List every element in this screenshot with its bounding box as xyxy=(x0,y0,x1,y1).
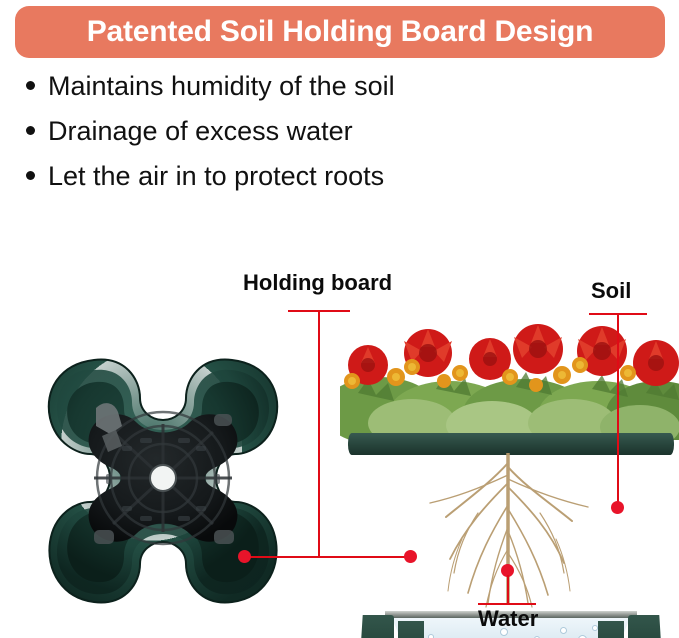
feature-text: Drainage of excess water xyxy=(48,117,353,147)
leader-line-soil-stem xyxy=(617,313,619,507)
leader-line-holding-board-bottom xyxy=(244,556,414,558)
reservoir-leg xyxy=(598,621,624,638)
leader-line-water-bottom xyxy=(478,603,536,605)
feature-item: Drainage of excess water xyxy=(26,117,586,162)
flower-mass xyxy=(340,315,679,440)
feature-item: Maintains humidity of the soil xyxy=(26,72,586,117)
feature-item: Let the air in to protect roots xyxy=(26,162,586,207)
leader-dot-soil xyxy=(611,501,624,514)
planter-cross-section-photo xyxy=(340,315,679,638)
product-illustration: Holding board Soil Water xyxy=(0,255,679,638)
planter-rim xyxy=(348,433,674,455)
holding-board-graphic xyxy=(18,350,308,620)
header-banner: Patented Soil Holding Board Design xyxy=(15,6,665,58)
leader-dot-holding-board-right xyxy=(404,550,417,563)
leader-line-water-stem xyxy=(507,575,509,605)
soil-holding-board-photo xyxy=(18,350,308,620)
leader-line-holding-board-stem xyxy=(318,310,320,558)
leader-dot-holding-board-left xyxy=(238,550,251,563)
reservoir-leg xyxy=(398,621,424,638)
page-title: Patented Soil Holding Board Design xyxy=(87,17,594,47)
flowers-graphic xyxy=(340,315,679,440)
infographic-page: Patented Soil Holding Board Design Maint… xyxy=(0,0,679,638)
callout-label-water: Water xyxy=(478,608,538,630)
bullet-icon xyxy=(26,81,35,90)
reservoir-leg xyxy=(628,615,662,638)
bullet-icon xyxy=(26,126,35,135)
feature-text: Let the air in to protect roots xyxy=(48,162,384,192)
feature-list: Maintains humidity of the soil Drainage … xyxy=(26,72,586,207)
feature-text: Maintains humidity of the soil xyxy=(48,72,395,102)
reservoir-leg xyxy=(360,615,394,638)
water-bubble xyxy=(560,627,567,634)
water-bubble xyxy=(428,634,434,638)
bullet-icon xyxy=(26,171,35,180)
callout-label-soil: Soil xyxy=(591,280,631,302)
callout-label-holding-board: Holding board xyxy=(243,272,392,294)
